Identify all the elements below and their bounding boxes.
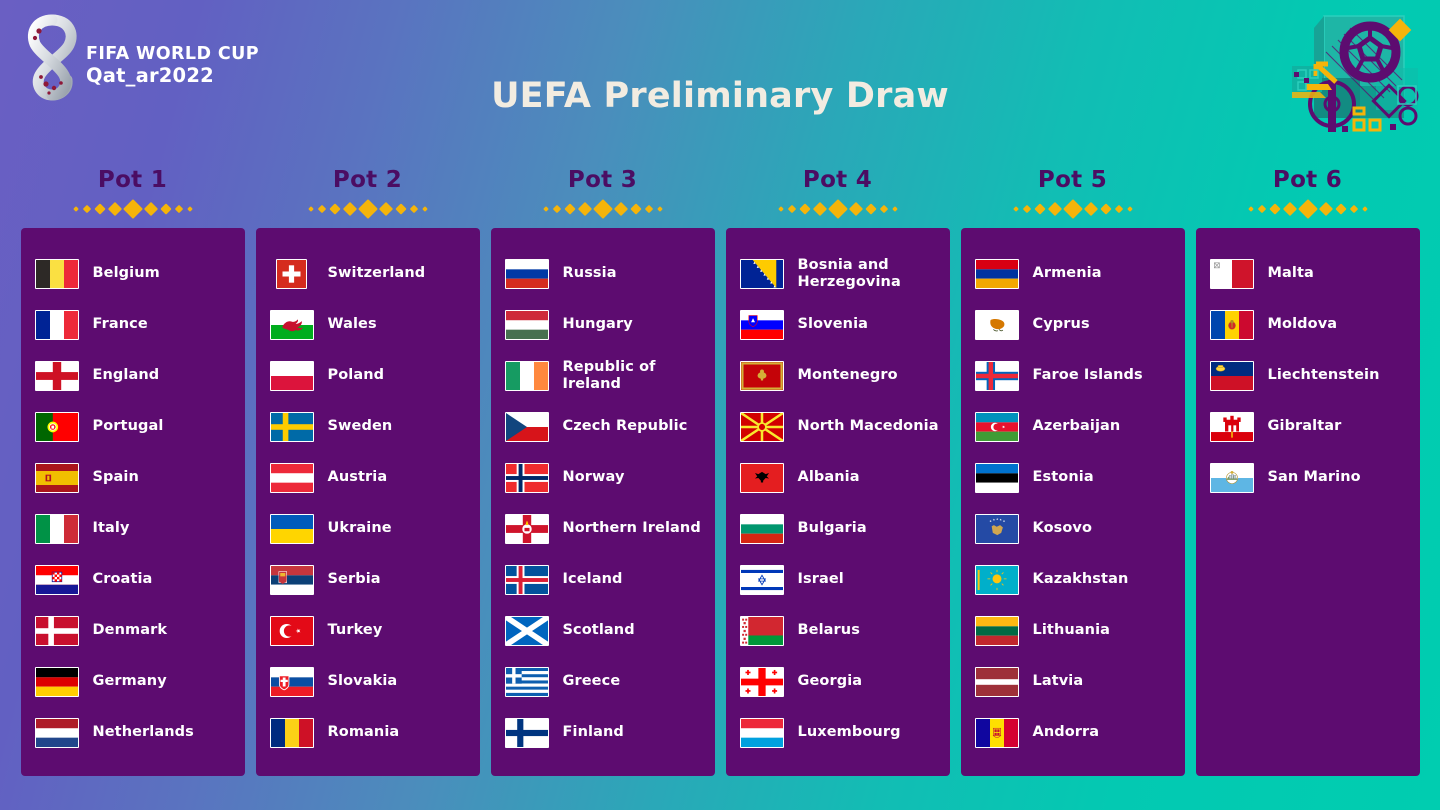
pot-title: Pot 3: [491, 166, 715, 194]
flag-slovenia: [740, 310, 784, 340]
team-name: England: [93, 367, 160, 384]
diamond-icon: [778, 206, 784, 212]
diamond-icon: [1127, 206, 1133, 212]
team-row[interactable]: Georgia: [726, 656, 950, 707]
team-name: Andorra: [1033, 724, 1100, 741]
team-row[interactable]: Ukraine: [256, 503, 480, 554]
team-name: Slovakia: [328, 673, 398, 690]
pot-panel-3: RussiaHungaryRepublic of IrelandCzech Re…: [491, 228, 715, 776]
team-row[interactable]: Republic of Ireland: [491, 350, 715, 401]
diamond-icon: [657, 206, 663, 212]
team-row[interactable]: Iceland: [491, 554, 715, 605]
pot-column-2: Pot 2SwitzerlandWalesPolandSwedenAustria…: [256, 166, 480, 776]
diamond-icon: [1063, 199, 1083, 219]
diamond-icon: [94, 203, 105, 214]
diamond-icon: [1114, 205, 1122, 213]
flag-romania: [270, 718, 314, 748]
team-name: Latvia: [1033, 673, 1084, 690]
team-row[interactable]: Russia: [491, 248, 715, 299]
diamond-icon: [1013, 206, 1019, 212]
diamond-icon: [848, 202, 862, 216]
flag-england: [35, 361, 79, 391]
team-name: Austria: [328, 469, 388, 486]
team-row[interactable]: Croatia: [21, 554, 245, 605]
team-name: Cyprus: [1033, 316, 1090, 333]
team-name: Serbia: [328, 571, 381, 588]
flag-luxembourg: [740, 718, 784, 748]
team-row[interactable]: Azerbaijan: [961, 401, 1185, 452]
flag-finland: [505, 718, 549, 748]
flag-scotland: [505, 616, 549, 646]
team-row[interactable]: Malta: [1196, 248, 1420, 299]
flag-russia: [505, 259, 549, 289]
team-row[interactable]: Spain: [21, 452, 245, 503]
diamond-icon: [892, 206, 898, 212]
diamond-icon: [187, 206, 193, 212]
team-row[interactable]: Scotland: [491, 605, 715, 656]
diamond-icon: [1318, 202, 1332, 216]
diamond-icon: [329, 203, 340, 214]
team-name: Turkey: [328, 622, 383, 639]
flag-poland: [270, 361, 314, 391]
team-row[interactable]: Kazakhstan: [961, 554, 1185, 605]
diamond-icon: [378, 202, 392, 216]
team-name: Spain: [93, 469, 139, 486]
team-row[interactable]: Andorra: [961, 707, 1185, 758]
diamond-icon: [1282, 202, 1296, 216]
diamond-icon: [1022, 205, 1030, 213]
team-name: Germany: [93, 673, 167, 690]
team-name: Montenegro: [798, 367, 898, 384]
flag-armenia: [975, 259, 1019, 289]
diamond-icon: [1362, 206, 1368, 212]
diamond-divider: [21, 198, 245, 220]
diamond-icon: [552, 205, 560, 213]
pot-column-4: Pot 4Bosnia and HerzegovinaSloveniaMonte…: [726, 166, 950, 776]
team-name: Ukraine: [328, 520, 392, 537]
team-name: Greece: [563, 673, 621, 690]
flag-liechtenstein: [1210, 361, 1254, 391]
flag-andorra: [975, 718, 1019, 748]
flag-austria: [270, 463, 314, 493]
team-name: Albania: [798, 469, 860, 486]
team-name: Belarus: [798, 622, 860, 639]
flag-faroe-islands: [975, 361, 1019, 391]
pot-header-2: Pot 2: [256, 166, 480, 220]
diamond-icon: [174, 205, 182, 213]
team-row[interactable]: San Marino: [1196, 452, 1420, 503]
team-row[interactable]: Hungary: [491, 299, 715, 350]
diamond-icon: [1100, 203, 1111, 214]
diamond-icon: [1047, 202, 1061, 216]
team-row[interactable]: North Macedonia: [726, 401, 950, 452]
team-row[interactable]: France: [21, 299, 245, 350]
team-row[interactable]: Latvia: [961, 656, 1185, 707]
flag-ukraine: [270, 514, 314, 544]
diamond-icon: [879, 205, 887, 213]
flag-france: [35, 310, 79, 340]
diamond-icon: [422, 206, 428, 212]
team-name: Kazakhstan: [1033, 571, 1129, 588]
diamond-icon: [395, 203, 406, 214]
diamond-icon: [143, 202, 157, 216]
team-name: Estonia: [1033, 469, 1094, 486]
diamond-icon: [107, 202, 121, 216]
pot-panel-5: ArmeniaCyprusFaroe IslandsAzerbaijanEsto…: [961, 228, 1185, 776]
flag-estonia: [975, 463, 1019, 493]
pot-panel-6: MaltaMoldovaLiechtensteinGibraltarSan Ma…: [1196, 228, 1420, 776]
team-name: Malta: [1268, 265, 1314, 282]
team-row[interactable]: Northern Ireland: [491, 503, 715, 554]
team-row[interactable]: Lithuania: [961, 605, 1185, 656]
flag-switzerland: [276, 259, 307, 289]
diamond-icon: [1248, 206, 1254, 212]
flag-bosnia-and-herzegovina: [740, 259, 784, 289]
flag-cyprus: [975, 310, 1019, 340]
team-row[interactable]: England: [21, 350, 245, 401]
team-name: Czech Republic: [563, 418, 688, 435]
diamond-icon: [409, 205, 417, 213]
team-name: Romania: [328, 724, 400, 741]
team-name: Italy: [93, 520, 130, 537]
team-row[interactable]: Slovakia: [256, 656, 480, 707]
diamond-icon: [1083, 202, 1097, 216]
flag-hungary: [505, 310, 549, 340]
team-row[interactable]: Kosovo: [961, 503, 1185, 554]
diamond-icon: [308, 206, 314, 212]
team-name: Sweden: [328, 418, 393, 435]
team-row[interactable]: Germany: [21, 656, 245, 707]
flag-northern-ireland: [505, 514, 549, 544]
team-name: Bulgaria: [798, 520, 867, 537]
team-row[interactable]: Austria: [256, 452, 480, 503]
flag-kazakhstan: [975, 565, 1019, 595]
team-row[interactable]: Italy: [21, 503, 245, 554]
flag-italy: [35, 514, 79, 544]
pot-panel-2: SwitzerlandWalesPolandSwedenAustriaUkrai…: [256, 228, 480, 776]
team-name: Northern Ireland: [563, 520, 701, 537]
team-row[interactable]: Israel: [726, 554, 950, 605]
flag-slovakia: [270, 667, 314, 697]
pot-title: Pot 1: [21, 166, 245, 194]
team-name: Armenia: [1033, 265, 1102, 282]
team-row[interactable]: Gibraltar: [1196, 401, 1420, 452]
flag-portugal: [35, 412, 79, 442]
flag-israel: [740, 565, 784, 595]
page-title: UEFA Preliminary Draw: [0, 76, 1440, 116]
diamond-divider: [491, 198, 715, 220]
flag-belarus: [740, 616, 784, 646]
team-row[interactable]: Cyprus: [961, 299, 1185, 350]
team-row[interactable]: Serbia: [256, 554, 480, 605]
flag-germany: [35, 667, 79, 697]
team-name: Liechtenstein: [1268, 367, 1380, 384]
team-name: Moldova: [1268, 316, 1338, 333]
diamond-icon: [1298, 199, 1318, 219]
diamond-icon: [317, 205, 325, 213]
pot-column-5: Pot 5ArmeniaCyprusFaroe IslandsAzerbaija…: [961, 166, 1185, 776]
diamond-icon: [613, 202, 627, 216]
flag-turkey: [270, 616, 314, 646]
team-row[interactable]: Norway: [491, 452, 715, 503]
team-row[interactable]: Romania: [256, 707, 480, 758]
flag-kosovo: [975, 514, 1019, 544]
flag-sweden: [270, 412, 314, 442]
flag-montenegro: [740, 361, 784, 391]
pot-title: Pot 2: [256, 166, 480, 194]
pot-title: Pot 6: [1196, 166, 1420, 194]
team-name: Bosnia and Herzegovina: [798, 257, 950, 291]
diamond-icon: [73, 206, 79, 212]
pot-header-1: Pot 1: [21, 166, 245, 220]
pot-header-5: Pot 5: [961, 166, 1185, 220]
team-row[interactable]: Greece: [491, 656, 715, 707]
team-row[interactable]: Finland: [491, 707, 715, 758]
team-name: Wales: [328, 316, 377, 333]
diamond-icon: [543, 206, 549, 212]
flag-ireland: [505, 361, 549, 391]
flag-norway: [505, 463, 549, 493]
team-row[interactable]: Belgium: [21, 248, 245, 299]
team-name: Israel: [798, 571, 844, 588]
diamond-icon: [342, 202, 356, 216]
flag-netherlands: [35, 718, 79, 748]
team-name: San Marino: [1268, 469, 1361, 486]
team-name: Finland: [563, 724, 624, 741]
pot-panel-4: Bosnia and HerzegovinaSloveniaMontenegro…: [726, 228, 950, 776]
pot-header-6: Pot 6: [1196, 166, 1420, 220]
diamond-divider: [961, 198, 1185, 220]
team-row[interactable]: Bulgaria: [726, 503, 950, 554]
flag-moldova: [1210, 310, 1254, 340]
pot-title: Pot 5: [961, 166, 1185, 194]
team-name: Hungary: [563, 316, 633, 333]
team-name: Georgia: [798, 673, 863, 690]
team-row[interactable]: Liechtenstein: [1196, 350, 1420, 401]
diamond-icon: [358, 199, 378, 219]
pot-header-4: Pot 4: [726, 166, 950, 220]
flag-greece: [505, 667, 549, 697]
team-name: Netherlands: [93, 724, 194, 741]
diamond-icon: [630, 203, 641, 214]
diamond-icon: [160, 203, 171, 214]
diamond-icon: [577, 202, 591, 216]
flag-latvia: [975, 667, 1019, 697]
team-row[interactable]: Faroe Islands: [961, 350, 1185, 401]
pot-panel-1: BelgiumFranceEnglandPortugalSpainItalyCr…: [21, 228, 245, 776]
team-name: Gibraltar: [1268, 418, 1342, 435]
team-name: Luxembourg: [798, 724, 901, 741]
pot-title: Pot 4: [726, 166, 950, 194]
team-name: Russia: [563, 265, 617, 282]
flag-lithuania: [975, 616, 1019, 646]
flag-wales: [270, 310, 314, 340]
diamond-icon: [593, 199, 613, 219]
team-row[interactable]: Moldova: [1196, 299, 1420, 350]
flag-bulgaria: [740, 514, 784, 544]
diamond-icon: [564, 203, 575, 214]
team-name: Portugal: [93, 418, 164, 435]
team-name: Faroe Islands: [1033, 367, 1143, 384]
team-row[interactable]: Poland: [256, 350, 480, 401]
diamond-icon: [644, 205, 652, 213]
diamond-icon: [123, 199, 143, 219]
flag-gibraltar: [1210, 412, 1254, 442]
flag-serbia: [270, 565, 314, 595]
team-name: Denmark: [93, 622, 168, 639]
diamond-icon: [1034, 203, 1045, 214]
team-name: Iceland: [563, 571, 623, 588]
flag-spain: [35, 463, 79, 493]
team-name: Slovenia: [798, 316, 869, 333]
qatar-pattern-icon: [1280, 8, 1430, 144]
diamond-divider: [1196, 198, 1420, 220]
flag-iceland: [505, 565, 549, 595]
diamond-icon: [865, 203, 876, 214]
team-name: Republic of Ireland: [563, 359, 715, 393]
diamond-icon: [82, 205, 90, 213]
pot-column-3: Pot 3RussiaHungaryRepublic of IrelandCze…: [491, 166, 715, 776]
flag-malta: [1210, 259, 1254, 289]
pot-column-6: Pot 6MaltaMoldovaLiechtensteinGibraltarS…: [1196, 166, 1420, 776]
flag-albania: [740, 463, 784, 493]
diamond-divider: [726, 198, 950, 220]
team-name: Switzerland: [328, 265, 426, 282]
team-name: Norway: [563, 469, 625, 486]
team-name: Kosovo: [1033, 520, 1093, 537]
team-row[interactable]: Luxembourg: [726, 707, 950, 758]
team-row[interactable]: Denmark: [21, 605, 245, 656]
team-name: Poland: [328, 367, 385, 384]
pot-column-1: Pot 1BelgiumFranceEnglandPortugalSpainIt…: [21, 166, 245, 776]
team-row[interactable]: Albania: [726, 452, 950, 503]
diamond-divider: [256, 198, 480, 220]
flag-north-macedonia: [740, 412, 784, 442]
flag-denmark: [35, 616, 79, 646]
diamond-icon: [787, 205, 795, 213]
team-name: Belgium: [93, 265, 160, 282]
team-name: Lithuania: [1033, 622, 1111, 639]
page-header: FIFA WORLD CUP Qat_ar2022 UEFA Prelimina…: [0, 0, 1440, 160]
flag-croatia: [35, 565, 79, 595]
team-name: North Macedonia: [798, 418, 939, 435]
flag-georgia: [740, 667, 784, 697]
team-row[interactable]: Turkey: [256, 605, 480, 656]
diamond-icon: [1257, 205, 1265, 213]
diamond-icon: [1349, 205, 1357, 213]
flag-san-marino: [1210, 463, 1254, 493]
team-row[interactable]: Montenegro: [726, 350, 950, 401]
team-name: Croatia: [93, 571, 153, 588]
diamond-icon: [812, 202, 826, 216]
diamond-icon: [799, 203, 810, 214]
team-row[interactable]: Armenia: [961, 248, 1185, 299]
team-row[interactable]: Bosnia and Herzegovina: [726, 248, 950, 299]
pot-header-3: Pot 3: [491, 166, 715, 220]
team-row[interactable]: Estonia: [961, 452, 1185, 503]
flag-czech-republic: [505, 412, 549, 442]
team-row[interactable]: Wales: [256, 299, 480, 350]
team-row[interactable]: Czech Republic: [491, 401, 715, 452]
fifa-logo-line1: FIFA WORLD CUP: [86, 44, 259, 64]
team-name: Azerbaijan: [1033, 418, 1121, 435]
diamond-icon: [1269, 203, 1280, 214]
team-row[interactable]: Netherlands: [21, 707, 245, 758]
team-name: Scotland: [563, 622, 635, 639]
flag-azerbaijan: [975, 412, 1019, 442]
pots-container: Pot 1BelgiumFranceEnglandPortugalSpainIt…: [0, 166, 1440, 776]
team-row[interactable]: Switzerland: [256, 248, 480, 299]
team-row[interactable]: Sweden: [256, 401, 480, 452]
team-row[interactable]: Portugal: [21, 401, 245, 452]
flag-belgium: [35, 259, 79, 289]
diamond-icon: [1335, 203, 1346, 214]
diamond-icon: [828, 199, 848, 219]
team-row[interactable]: Belarus: [726, 605, 950, 656]
team-name: France: [93, 316, 148, 333]
team-row[interactable]: Slovenia: [726, 299, 950, 350]
